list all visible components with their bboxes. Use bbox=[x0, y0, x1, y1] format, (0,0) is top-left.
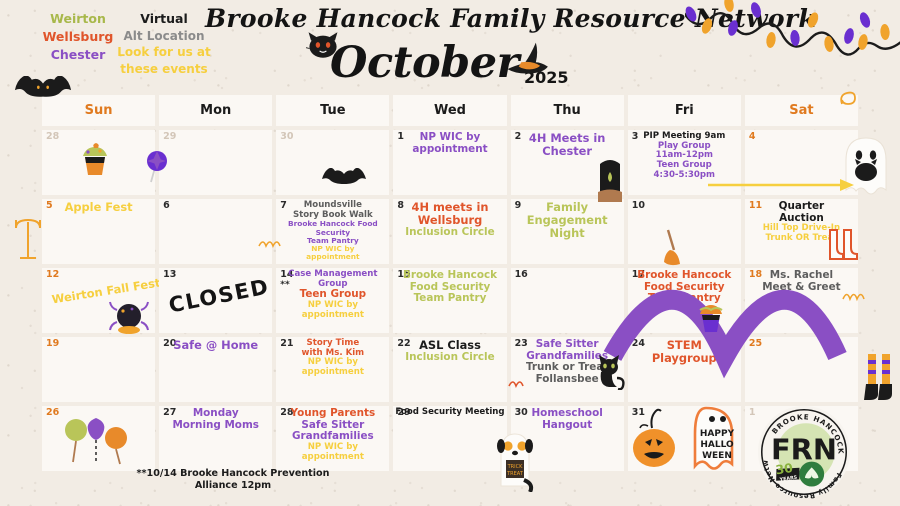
day-cell[interactable]: 13CLOSED bbox=[159, 268, 272, 333]
day-cell[interactable]: 20Safe @ Home bbox=[159, 337, 272, 402]
event-text[interactable]: Night bbox=[513, 227, 622, 240]
event-text[interactable]: Inclusion Circle bbox=[395, 227, 504, 239]
day-cell[interactable]: 28 bbox=[42, 130, 155, 195]
event-text[interactable]: Wellsburg bbox=[395, 214, 504, 227]
day-number: 6 bbox=[163, 201, 170, 211]
event-text[interactable]: Team Pantry bbox=[395, 293, 504, 305]
event-text[interactable]: Morning Moms bbox=[161, 420, 270, 432]
day-number: 1 bbox=[749, 408, 756, 418]
event-text[interactable]: Ms. Rachel bbox=[747, 270, 856, 282]
event-list: Brooke HancockFood SecurityTeam Pantry bbox=[630, 270, 739, 305]
day-cell[interactable]: 24H Meets inChester bbox=[511, 130, 624, 195]
day-cell[interactable]: 9FamilyEngagementNight bbox=[511, 199, 624, 264]
calendar-grid: SunMonTueWedThuFriSat2829301NP WIC byapp… bbox=[42, 95, 858, 471]
day-cell[interactable]: 19 bbox=[42, 337, 155, 402]
event-text[interactable]: Brooke Hancock bbox=[630, 270, 739, 282]
day-cell[interactable]: 1NP WIC byappointment bbox=[393, 130, 506, 195]
event-list: 4H Meets inChester bbox=[513, 132, 622, 158]
day-number: 31 bbox=[632, 408, 645, 418]
event-text[interactable]: Follansbee bbox=[513, 374, 622, 386]
event-text[interactable]: Chester bbox=[513, 145, 622, 158]
event-list: Story Timewith Ms. KimNP WIC byappointme… bbox=[278, 339, 387, 378]
event-text[interactable]: STEM bbox=[630, 339, 739, 352]
event-list: Safe @ Home bbox=[161, 339, 270, 352]
day-cell[interactable]: 21Story Timewith Ms. KimNP WIC byappoint… bbox=[276, 337, 389, 402]
bat-icon bbox=[14, 76, 72, 106]
event-list: 4H meets inWellsburgInclusion Circle bbox=[395, 201, 504, 238]
event-text[interactable]: Inclusion Circle bbox=[395, 352, 504, 364]
day-cell[interactable]: 10 bbox=[628, 199, 741, 264]
event-text[interactable]: Food Security Meeting bbox=[395, 408, 504, 418]
day-number: 12 bbox=[46, 270, 59, 280]
day-cell[interactable]: 29 bbox=[159, 130, 272, 195]
event-list: Case ManagementGroupTeen GroupNP WIC bya… bbox=[278, 270, 387, 320]
event-text[interactable]: Brooke Hancock bbox=[395, 270, 504, 282]
event-text[interactable]: appointment bbox=[278, 368, 387, 378]
day-cell[interactable]: 14**Case ManagementGroupTeen GroupNP WIC… bbox=[276, 268, 389, 333]
month-title: October bbox=[330, 38, 519, 88]
event-list: Young ParentsSafe SitterGrandfamiliesNP … bbox=[278, 408, 387, 462]
day-cell[interactable]: 17Brooke HancockFood SecurityTeam Pantry bbox=[628, 268, 741, 333]
day-number: 4 bbox=[749, 132, 756, 142]
dow-header-fri: Fri bbox=[628, 95, 741, 126]
closed-label: CLOSED bbox=[166, 274, 273, 317]
calendar-header: Weirton Wellsburg Chester Virtual Alt Lo… bbox=[0, 0, 900, 95]
day-cell[interactable]: 84H meets inWellsburgInclusion Circle bbox=[393, 199, 506, 264]
day-cell[interactable]: 22ASL ClassInclusion Circle bbox=[393, 337, 506, 402]
day-cell[interactable]: 31 bbox=[628, 406, 741, 471]
day-number: 10 bbox=[632, 201, 645, 211]
event-text[interactable]: NP WIC by bbox=[395, 132, 504, 144]
footnote: **10/14 Brooke Hancock Prevention Allian… bbox=[128, 468, 338, 493]
event-text[interactable]: 4H Meets in bbox=[513, 132, 622, 145]
day-cell[interactable]: 30HomeschoolHangout bbox=[511, 406, 624, 471]
dow-header-mon: Mon bbox=[159, 95, 272, 126]
dow-header-tue: Tue bbox=[276, 95, 389, 126]
event-text[interactable]: ASL Class bbox=[395, 339, 504, 352]
day-cell[interactable]: 30 bbox=[276, 130, 389, 195]
black-cat-icon bbox=[306, 30, 340, 60]
page-title: Brooke Hancock Family Resource Network bbox=[205, 4, 705, 33]
event-list: PIP Meeting 9amPlay Group11am-12pmTeen G… bbox=[630, 132, 739, 180]
svg-text:TREAT: TREAT bbox=[506, 471, 524, 477]
string-lights-icon bbox=[685, 0, 900, 72]
day-cell[interactable]: 24STEMPlaygroup bbox=[628, 337, 741, 402]
event-text[interactable]: appointment bbox=[278, 311, 387, 321]
dow-header-thu: Thu bbox=[511, 95, 624, 126]
legend-item-look-for-us: Look for us at these events bbox=[104, 44, 224, 78]
event-list: Food Security Meeting bbox=[395, 408, 504, 418]
event-list: FamilyEngagementNight bbox=[513, 201, 622, 239]
day-number: 13 bbox=[163, 270, 176, 280]
day-number: 28 bbox=[46, 132, 59, 142]
day-cell[interactable]: 16 bbox=[511, 268, 624, 333]
event-list: MoundsvilleStory Book WalkBrooke Hancock… bbox=[278, 201, 387, 262]
event-text[interactable]: Family bbox=[513, 201, 622, 214]
day-cell[interactable]: 26 bbox=[42, 406, 155, 471]
event-text[interactable]: Playgroup bbox=[630, 352, 739, 365]
day-cell[interactable]: 23Safe SitterGrandfamiliesTrunk or Treat… bbox=[511, 337, 624, 402]
day-cell[interactable]: 25 bbox=[745, 337, 858, 402]
day-cell[interactable]: 6 bbox=[159, 199, 272, 264]
event-text[interactable]: appointment bbox=[278, 253, 387, 261]
day-cell[interactable]: 18Ms. RachelMeet & Greet bbox=[745, 268, 858, 333]
event-list: Brooke HancockFood SecurityTeam Pantry bbox=[395, 270, 504, 305]
day-number: 30 bbox=[280, 132, 293, 142]
day-number: 29 bbox=[163, 132, 176, 142]
event-text[interactable]: 4H meets in bbox=[395, 201, 504, 214]
event-text[interactable]: Trunk OR Treat bbox=[747, 234, 856, 244]
event-text[interactable]: Quarter bbox=[747, 201, 856, 213]
witch-legs-icon bbox=[862, 352, 896, 406]
event-list: Apple Fest bbox=[44, 201, 153, 214]
event-text[interactable]: Meet & Greet bbox=[747, 282, 856, 294]
event-list: HomeschoolHangout bbox=[513, 408, 622, 431]
dow-header-wed: Wed bbox=[393, 95, 506, 126]
event-text[interactable]: Team Pantry bbox=[630, 293, 739, 305]
event-text[interactable]: Apple Fest bbox=[44, 201, 153, 214]
apple-fest-arrow-icon bbox=[708, 178, 856, 192]
day-cell[interactable]: 11QuarterAuctionHill Top Drive-InTrunk O… bbox=[745, 199, 858, 264]
swirl-decor-icon bbox=[838, 86, 860, 108]
day-cell[interactable]: 15Brooke HancockFood SecurityTeam Pantry bbox=[393, 268, 506, 333]
event-text[interactable]: Hangout bbox=[513, 420, 622, 432]
candelabra-icon bbox=[12, 208, 44, 264]
event-text[interactable]: appointment bbox=[395, 144, 504, 156]
day-cell[interactable]: 29Food Security Meeting bbox=[393, 406, 506, 471]
event-list: STEMPlaygroup bbox=[630, 339, 739, 365]
event-text[interactable]: Brooke Hancock Food Security bbox=[278, 220, 387, 237]
svg-text:30: 30 bbox=[775, 460, 795, 477]
event-list: Safe SitterGrandfamiliesTrunk or TreatFo… bbox=[513, 339, 622, 386]
frn-logo: BROOKE HANCOCK Family Resource Network F… bbox=[756, 404, 852, 500]
event-list: MondayMorning Moms bbox=[161, 408, 270, 431]
day-cell[interactable]: 27MondayMorning Moms bbox=[159, 406, 272, 471]
event-text[interactable]: Monday bbox=[161, 408, 270, 420]
event-list: NP WIC byappointment bbox=[395, 132, 504, 155]
event-text[interactable]: appointment bbox=[278, 453, 387, 463]
day-cell[interactable]: 12Weirton Fall Fest bbox=[42, 268, 155, 333]
event-list: QuarterAuctionHill Top Drive-InTrunk OR … bbox=[747, 201, 856, 244]
day-cell[interactable]: 7MoundsvilleStory Book WalkBrooke Hancoc… bbox=[276, 199, 389, 264]
event-list: ASL ClassInclusion Circle bbox=[395, 339, 504, 363]
day-cell[interactable]: 28Young ParentsSafe SitterGrandfamiliesN… bbox=[276, 406, 389, 471]
day-number: 16 bbox=[515, 270, 528, 280]
event-text[interactable]: Safe @ Home bbox=[161, 339, 270, 352]
event-text[interactable]: Safe Sitter bbox=[513, 339, 622, 351]
witch-hat-icon bbox=[505, 40, 553, 76]
day-number: 25 bbox=[749, 339, 762, 349]
day-number: 26 bbox=[46, 408, 59, 418]
event-text[interactable]: Homeschool bbox=[513, 408, 622, 420]
event-text[interactable]: Young Parents bbox=[278, 408, 387, 420]
weirton-fall-fest-label: Weirton Fall Fest bbox=[46, 275, 167, 308]
day-cell[interactable]: 5Apple Fest bbox=[42, 199, 155, 264]
event-text[interactable]: Engagement bbox=[513, 214, 622, 227]
day-number: 19 bbox=[46, 339, 59, 349]
event-list: Ms. RachelMeet & Greet bbox=[747, 270, 856, 293]
